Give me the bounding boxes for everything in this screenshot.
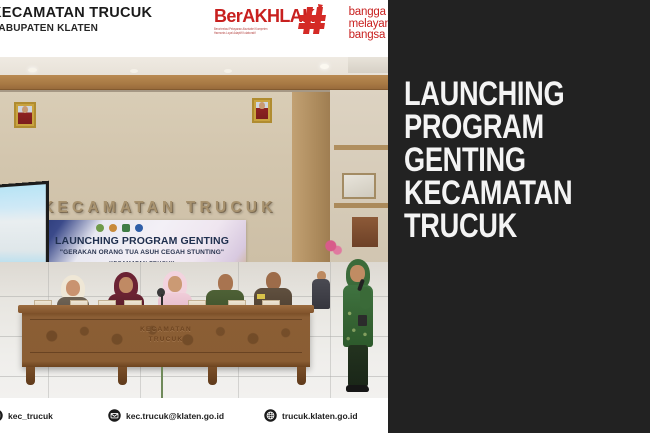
slogan-line-1: bangga <box>349 7 393 19</box>
slogan-line-3: bangsa <box>349 30 393 42</box>
table-inscription-line-2: TRUCUK <box>149 336 184 343</box>
table-inscription-line-1: KECAMATAN <box>140 326 192 333</box>
framed-certificate <box>342 173 376 199</box>
instagram-handle: kec_trucuk <box>8 411 53 421</box>
headline-line-4: KECAMATAN <box>404 177 594 210</box>
title-panel: LAUNCHING PROGRAM GENTING KECAMATAN TRUC… <box>388 0 650 433</box>
hash-icon <box>298 4 328 36</box>
berakhlak-logo: BerAKHLAK Berorientasi Pelayanan Akuntab… <box>214 7 393 42</box>
contact-instagram[interactable]: kec_trucuk <box>0 409 53 422</box>
microphone-cable <box>161 367 163 398</box>
table-leg <box>208 367 217 385</box>
framed-portrait-vice-president <box>252 98 272 123</box>
website-url: trucuk.klaten.go.id <box>282 411 358 421</box>
carved-wooden-table: KECAMATAN TRUCUK <box>22 309 310 367</box>
table-leg <box>297 367 306 385</box>
email-icon <box>108 409 121 422</box>
ceiling-light <box>224 69 232 73</box>
ceiling-light <box>130 69 138 73</box>
flower-arrangement <box>322 237 344 259</box>
shelf-board <box>334 145 388 150</box>
headline-line-5: TRUCUK <box>404 210 594 243</box>
email-address: kec.trucuk@klaten.go.id <box>126 411 224 421</box>
contact-website[interactable]: trucuk.klaten.go.id <box>264 409 358 422</box>
instagram-icon <box>0 409 3 422</box>
headline-line-3: GENTING <box>404 144 594 177</box>
air-conditioner <box>348 57 388 73</box>
framed-portrait-president <box>14 102 36 128</box>
organization-block: KECAMATAN TRUCUK KABUPATEN KLATEN <box>0 6 152 35</box>
table-top-edge <box>18 305 314 313</box>
banner-subtitle: "GERAKAN ORANG TUA ASUH CEGAH STUNTING" <box>38 249 246 256</box>
speaker-garment-pattern <box>344 305 372 347</box>
table-inscription: KECAMATAN TRUCUK <box>22 325 310 345</box>
shelf-ornament <box>352 217 378 247</box>
event-photograph: KECAMATAN TRUCUK LAUNCHING PROGRAM GENTI… <box>0 57 388 398</box>
speaker-shoes <box>346 385 369 392</box>
ceiling-light <box>320 64 329 69</box>
table-leg <box>26 367 35 385</box>
organization-region: KABUPATEN KLATEN <box>0 24 152 35</box>
banner-title: LAUNCHING PROGRAM GENTING <box>38 235 246 247</box>
organization-name: KECAMATAN TRUCUK <box>0 6 152 21</box>
banner-logo-row <box>96 224 143 232</box>
headline-line-2: PROGRAM <box>404 111 594 144</box>
contact-email[interactable]: kec.trucuk@klaten.go.id <box>108 409 224 422</box>
banner-logo <box>135 224 143 232</box>
background-attendee <box>312 279 330 309</box>
footer-contact-bar: kec_trucuk kec.trucuk@klaten.go.id trucu… <box>0 398 388 433</box>
shelf-board <box>334 203 388 208</box>
banner-logo <box>96 224 104 232</box>
table-leg <box>118 367 127 385</box>
globe-icon <box>264 409 277 422</box>
berakhlak-tagline-line-2: Harmonis Loyal Adaptif Kolaboratif <box>214 31 310 36</box>
speaker-legs <box>348 345 368 387</box>
berakhlak-slogan: bangga melayani bangsa <box>349 7 393 42</box>
headline: LAUNCHING PROGRAM GENTING KECAMATAN TRUC… <box>404 78 594 243</box>
standing-speaker <box>340 257 380 398</box>
banner-logo <box>109 224 117 232</box>
berakhlak-tagline: Berorientasi Pelayanan Akuntabel Kompete… <box>214 27 310 35</box>
speaker-arm <box>360 287 371 309</box>
headline-line-1: LAUNCHING <box>404 78 594 111</box>
berakhlak-wordmark-group: BerAKHLAK Berorientasi Pelayanan Akuntab… <box>214 7 315 35</box>
wooden-ceiling-beam <box>0 75 388 90</box>
ceiling-light <box>28 68 37 72</box>
speaker-id-badge <box>358 315 367 326</box>
banner-logo <box>122 224 130 232</box>
wall-sign-text: KECAMATAN TRUCUK <box>42 199 287 219</box>
